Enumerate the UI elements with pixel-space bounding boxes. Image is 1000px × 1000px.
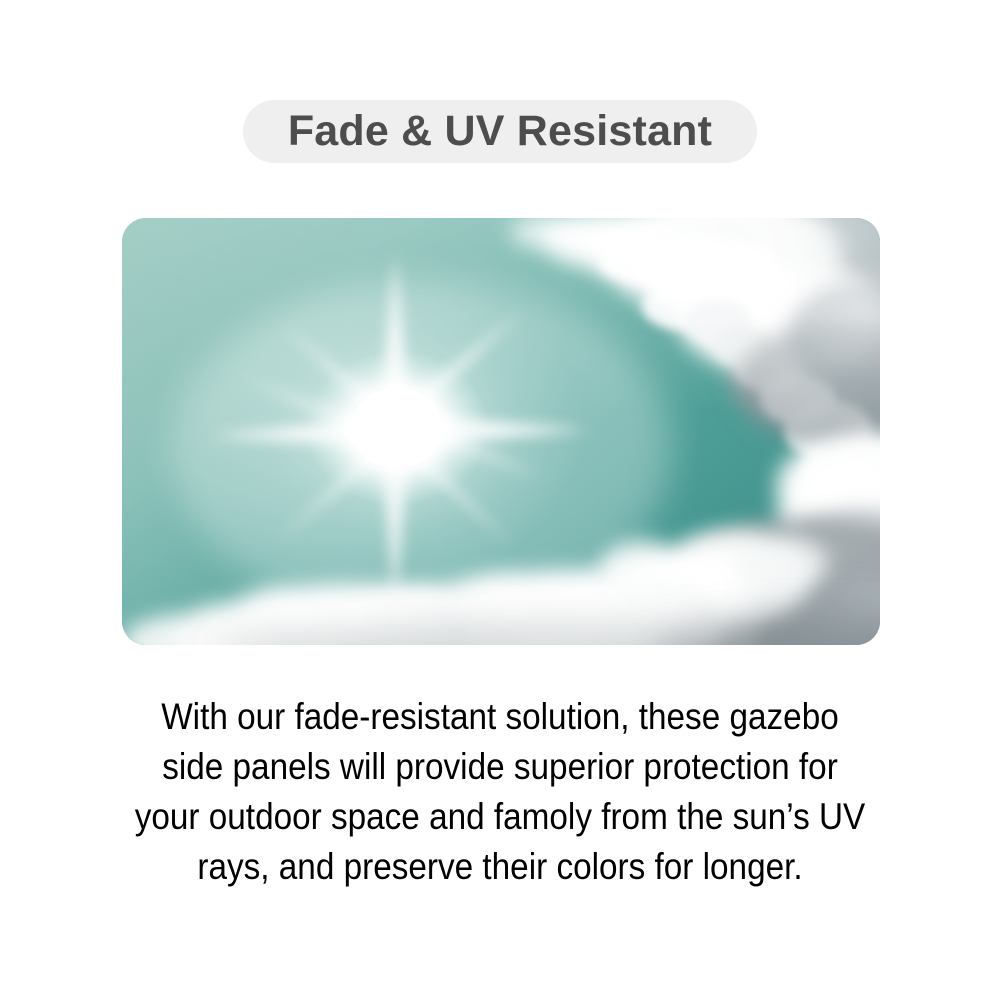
description-text: With our fade-resistant solution, these … xyxy=(80,692,920,892)
description-line: side panels will provide superior protec… xyxy=(122,742,878,792)
page-title: Fade & UV Resistant xyxy=(288,110,712,153)
description-line: rays, and preserve their colors for long… xyxy=(122,842,878,892)
sun-sky-illustration xyxy=(122,218,880,645)
description-line: With our fade-resistant solution, these … xyxy=(122,692,878,742)
description-line: your outdoor space and famoly from the s… xyxy=(122,792,878,842)
title-pill: Fade & UV Resistant xyxy=(243,100,757,163)
feature-card: Fade & UV Resistant xyxy=(0,0,1000,1000)
sun-sky-photo xyxy=(122,218,880,645)
